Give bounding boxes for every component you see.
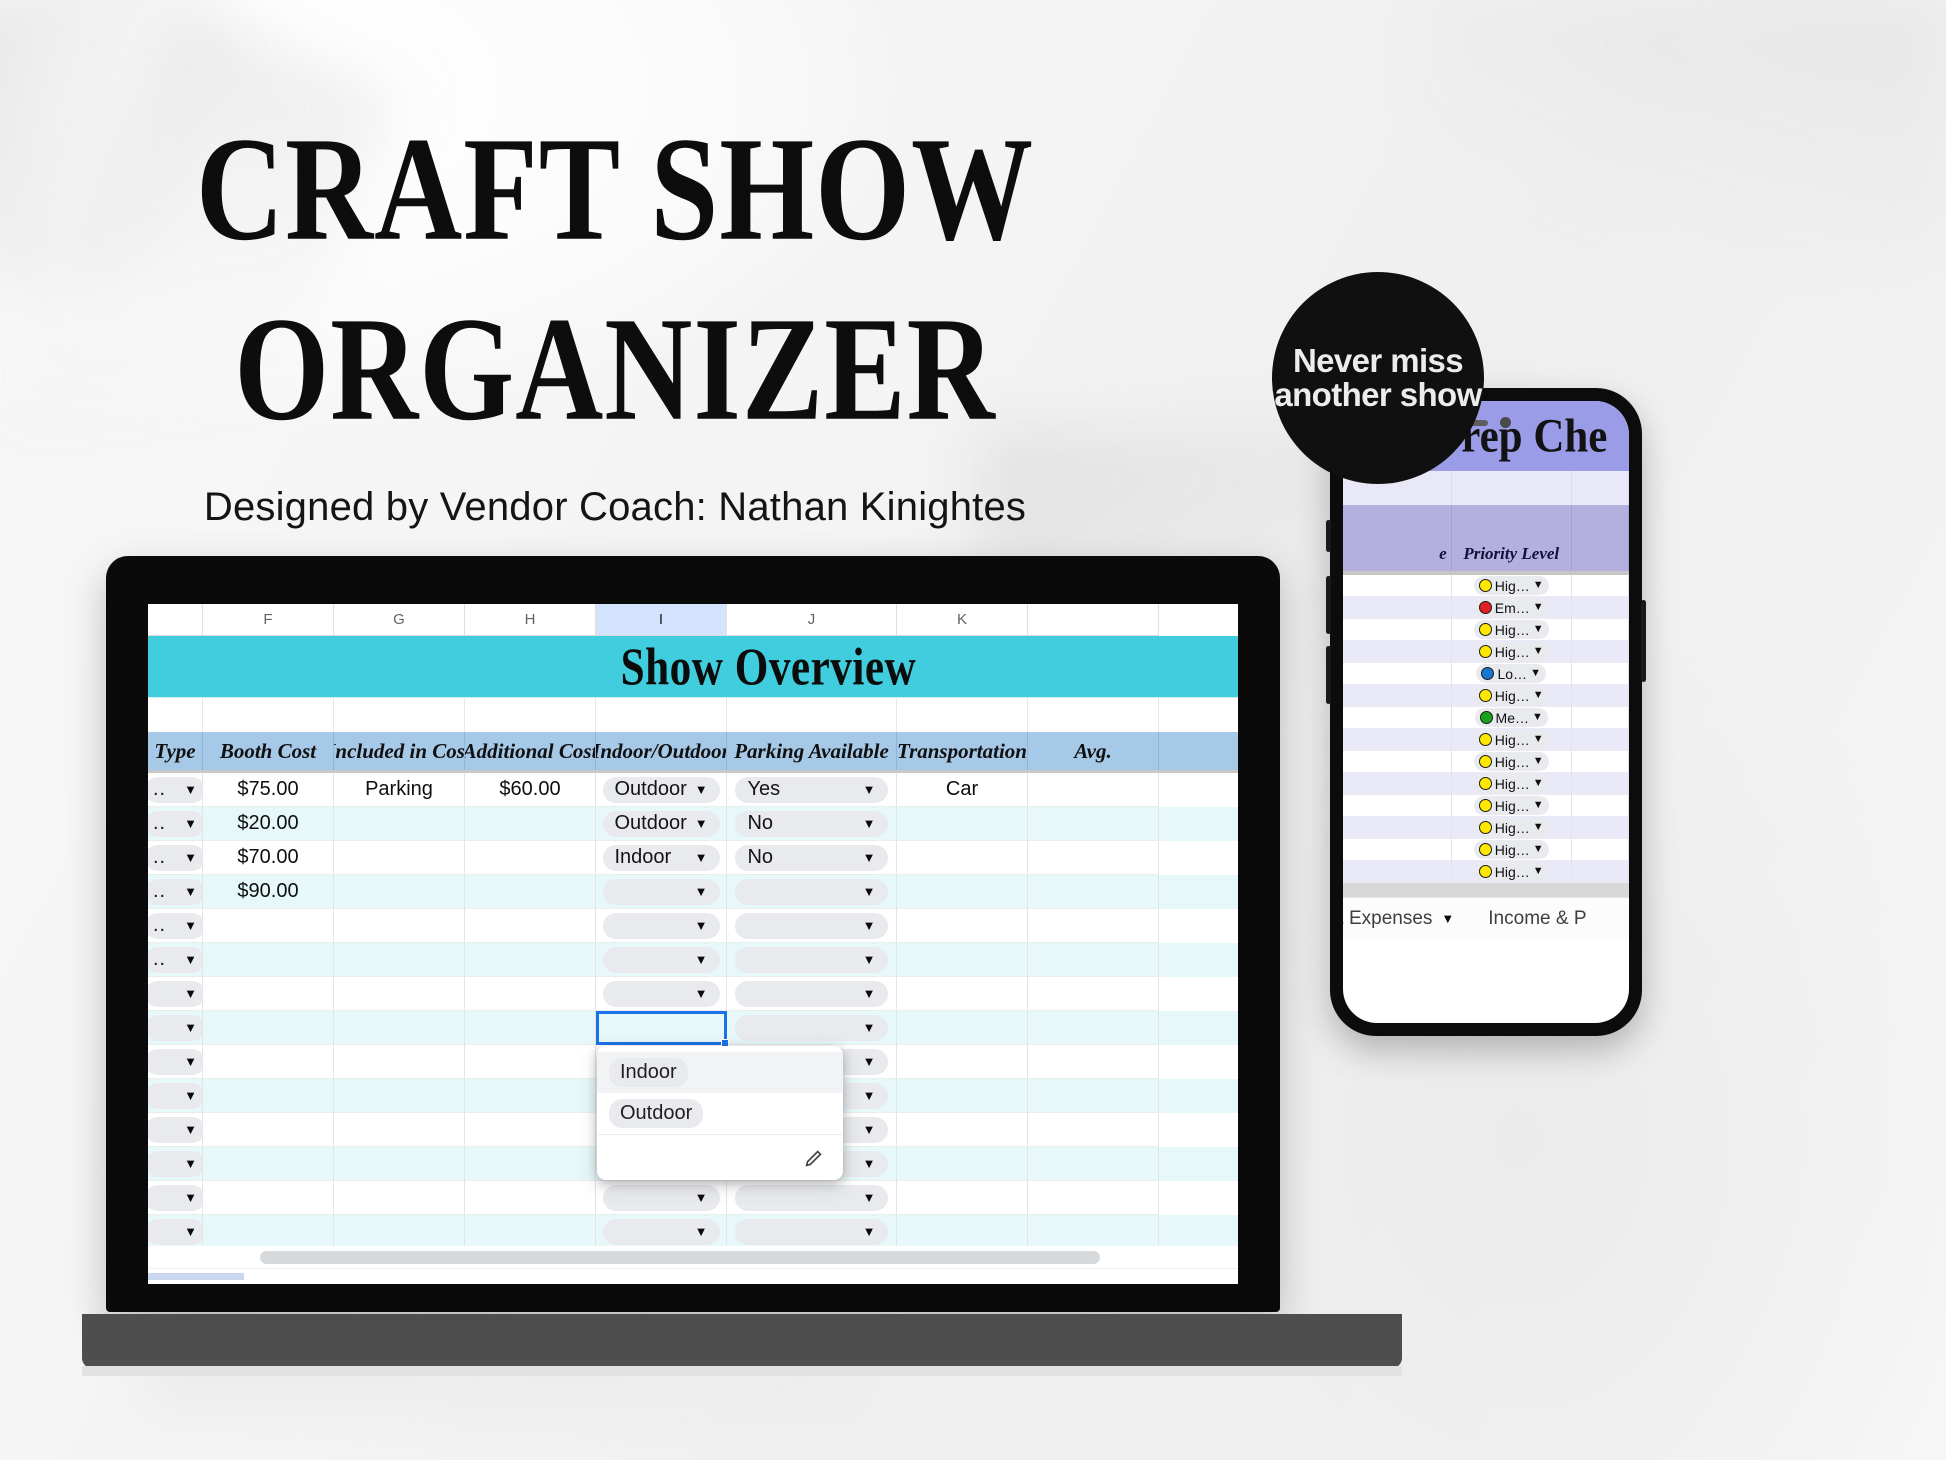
blank-cell[interactable] [334,698,465,732]
table-header-cell[interactable]: Transportation [897,732,1028,770]
phone-table-cell[interactable] [1343,795,1452,817]
chevron-down-icon[interactable]: ▼ [184,1225,197,1238]
chevron-down-icon[interactable]: ▼ [863,919,876,932]
phone-table-cell[interactable] [1572,773,1629,795]
table-cell[interactable] [897,977,1028,1011]
dropdown-chip[interactable]: ..▼ [148,913,203,939]
chevron-down-icon[interactable]: ▼ [863,1089,876,1102]
column-header-f[interactable]: F [203,604,334,636]
chevron-down-icon[interactable]: ▼ [863,1225,876,1238]
chevron-down-icon[interactable]: ▼ [1533,756,1544,767]
table-cell[interactable]: Yes▼ [727,773,897,807]
table-cell[interactable] [897,1147,1028,1181]
table-cell[interactable]: Outdoor▼ [596,773,727,807]
blank-cell[interactable] [148,698,203,732]
phone-priority-cell[interactable]: Hig…▼ [1452,729,1572,751]
chevron-down-icon[interactable]: ▼ [1533,624,1544,635]
chevron-down-icon[interactable]: ▼ [184,817,197,830]
table-cell[interactable]: ▼ [596,943,727,977]
chevron-down-icon[interactable]: ▼ [695,1225,708,1238]
table-cell[interactable] [334,807,465,841]
chevron-down-icon[interactable]: ▼ [1533,866,1544,877]
chevron-down-icon[interactable]: ▼ [863,817,876,830]
table-cell[interactable]: ▼ [148,1045,203,1079]
table-cell[interactable]: ..▼ [148,773,203,807]
phone-table-row[interactable]: Hig…▼ [1343,839,1629,861]
phone-table-row[interactable]: Hig…▼ [1343,795,1629,817]
table-cell[interactable]: $70.00 [203,841,334,875]
table-cell[interactable]: No▼ [727,807,897,841]
table-cell[interactable] [1028,1215,1159,1249]
dropdown-chip[interactable]: ▼ [148,1185,203,1211]
chevron-down-icon[interactable]: ▼ [863,1123,876,1136]
phone-table-cell[interactable] [1572,597,1629,619]
dropdown-chip[interactable]: ..▼ [148,845,203,871]
dropdown-chip[interactable]: ..▼ [148,947,203,973]
pencil-icon[interactable] [803,1147,825,1169]
table-cell[interactable] [465,875,596,909]
dropdown-menu[interactable]: Indoor Outdoor [597,1046,843,1180]
table-cell[interactable]: ▼ [727,1011,897,1045]
table-row[interactable]: ▼▼▼ [148,1215,1238,1249]
chevron-down-icon[interactable]: ▼ [184,1089,197,1102]
table-cell[interactable] [465,1113,596,1147]
table-cell[interactable]: ▼ [148,1147,203,1181]
phone-table-cell[interactable] [1572,663,1629,685]
blank-cell[interactable] [727,698,897,732]
dropdown-chip[interactable]: ▼ [735,1219,887,1245]
table-header-cell[interactable]: Parking Available [727,732,897,770]
table-cell[interactable] [897,1215,1028,1249]
phone-table-row[interactable]: Hig…▼ [1343,773,1629,795]
dropdown-chip[interactable]: ▼ [603,981,720,1007]
table-cell[interactable] [203,943,334,977]
table-cell[interactable] [334,1011,465,1045]
table-cell[interactable]: ▼ [727,875,897,909]
table-cell[interactable]: ..▼ [148,807,203,841]
chevron-down-icon[interactable]: ▼ [863,851,876,864]
phone-table-cell[interactable] [1343,861,1452,883]
table-cell[interactable] [897,807,1028,841]
chevron-down-icon[interactable]: ▼ [695,783,708,796]
table-cell[interactable]: ▼ [727,1215,897,1249]
chevron-down-icon[interactable]: ▼ [695,1191,708,1204]
table-cell[interactable] [203,1011,334,1045]
priority-chip[interactable]: Hig…▼ [1474,576,1549,595]
phone-table-row[interactable]: Hig…▼ [1343,817,1629,839]
table-cell[interactable]: ..▼ [148,909,203,943]
table-cell[interactable] [465,1181,596,1215]
priority-chip[interactable]: Hig…▼ [1474,642,1549,661]
phone-priority-cell[interactable]: Hig…▼ [1452,619,1572,641]
phone-table-row[interactable]: Lo…▼ [1343,663,1629,685]
table-cell[interactable] [897,1113,1028,1147]
dropdown-chip[interactable]: ..▼ [148,777,203,803]
chevron-down-icon[interactable]: ▼ [863,1157,876,1170]
phone-table-cell[interactable] [1343,685,1452,707]
chevron-down-icon[interactable]: ▼ [1533,690,1544,701]
phone-power-button[interactable] [1641,600,1646,682]
blank-cell[interactable] [1028,698,1159,732]
column-header-i[interactable]: I [596,604,727,636]
table-cell[interactable]: ..▼ [148,841,203,875]
phone-priority-cell[interactable]: Hig…▼ [1452,773,1572,795]
phone-table-cell[interactable] [1343,729,1452,751]
table-row[interactable]: ..▼$90.00▼▼ [148,875,1238,909]
table-cell[interactable] [465,1215,596,1249]
table-cell[interactable] [203,1181,334,1215]
phone-table-row[interactable]: Em…▼ [1343,597,1629,619]
phone-mute-button[interactable] [1326,520,1331,552]
table-cell[interactable] [465,909,596,943]
table-cell[interactable]: ▼ [148,977,203,1011]
chevron-down-icon[interactable]: ▼ [1533,580,1544,591]
phone-priority-cell[interactable]: Hig…▼ [1452,817,1572,839]
chevron-down-icon[interactable]: ▼ [184,1123,197,1136]
table-cell[interactable] [334,1215,465,1249]
phone-tab-bar[interactable]: & Expenses ▼ Income & P [1343,897,1629,939]
table-cell[interactable] [897,943,1028,977]
phone-volume-up-button[interactable] [1326,576,1331,634]
table-row[interactable]: ▼▼▼ [148,977,1238,1011]
table-cell[interactable]: ▼ [148,1181,203,1215]
phone-table-row[interactable]: Hig…▼ [1343,641,1629,663]
chevron-down-icon[interactable]: ▼ [863,1191,876,1204]
chevron-down-icon[interactable]: ▼ [863,783,876,796]
table-cell[interactable]: ▼ [727,1181,897,1215]
phone-table-cell[interactable] [1343,619,1452,641]
chevron-down-icon[interactable]: ▼ [1533,602,1544,613]
table-cell[interactable] [203,1113,334,1147]
table-cell[interactable] [1028,1011,1159,1045]
phone-table-cell[interactable] [1343,663,1452,685]
dropdown-chip[interactable]: ▼ [603,1185,720,1211]
table-cell[interactable] [897,1045,1028,1079]
column-header-blank[interactable] [1028,604,1159,636]
priority-chip[interactable]: Lo…▼ [1476,664,1545,683]
chevron-down-icon[interactable]: ▼ [1530,668,1541,679]
table-cell[interactable] [334,1181,465,1215]
priority-chip[interactable]: Hig…▼ [1474,840,1549,859]
table-cell[interactable] [203,1079,334,1113]
phone-table-cell[interactable] [1343,773,1452,795]
phone-volume-down-button[interactable] [1326,646,1331,704]
chevron-down-icon[interactable]: ▼ [695,851,708,864]
table-cell[interactable] [334,1079,465,1113]
chevron-down-icon[interactable]: ▼ [1533,734,1544,745]
table-cell[interactable]: ▼ [148,1215,203,1249]
table-header-cell[interactable]: Indoor/Outdoor [596,732,727,770]
dropdown-chip[interactable]: ▼ [735,947,887,973]
priority-chip[interactable]: Me…▼ [1475,708,1548,727]
table-cell[interactable]: Outdoor▼ [596,807,727,841]
table-cell[interactable] [203,1147,334,1181]
dropdown-option-outdoor[interactable]: Outdoor [597,1093,843,1134]
chevron-down-icon[interactable]: ▼ [1533,844,1544,855]
table-cell[interactable] [1028,1113,1159,1147]
dropdown-chip[interactable]: ▼ [148,1049,203,1075]
table-cell[interactable] [203,1045,334,1079]
dropdown-chip[interactable]: ▼ [735,1185,887,1211]
table-cell[interactable]: ▼ [148,1113,203,1147]
chevron-down-icon[interactable]: ▼ [184,919,197,932]
table-cell[interactable] [897,1181,1028,1215]
table-cell[interactable]: Indoor▼ [596,841,727,875]
table-cell[interactable] [1028,943,1159,977]
dropdown-chip[interactable]: ▼ [603,913,720,939]
priority-chip[interactable]: Hig…▼ [1474,818,1549,837]
phone-table-cell[interactable] [1572,685,1629,707]
dropdown-chip[interactable]: No▼ [735,845,887,871]
table-cell[interactable] [1028,1079,1159,1113]
table-cell[interactable]: ..▼ [148,943,203,977]
phone-table-cell[interactable] [1343,707,1452,729]
table-cell[interactable]: ▼ [727,977,897,1011]
dropdown-chip[interactable]: ▼ [148,1151,203,1177]
table-cell[interactable] [334,1113,465,1147]
table-cell[interactable]: Parking [334,773,465,807]
chevron-down-icon[interactable]: ▼ [1533,822,1544,833]
phone-table-cell[interactable] [1572,795,1629,817]
chevron-down-icon[interactable]: ▼ [1533,646,1544,657]
sheet-tab-strip[interactable] [148,1268,1238,1284]
table-cell[interactable]: No▼ [727,841,897,875]
table-cell[interactable]: ▼ [727,943,897,977]
column-header-k[interactable]: K [897,604,1028,636]
chevron-down-icon[interactable]: ▼ [695,987,708,1000]
phone-table-cell[interactable] [1343,751,1452,773]
table-cell[interactable] [897,1079,1028,1113]
dropdown-chip[interactable]: ▼ [735,879,887,905]
phone-table-cell[interactable] [1572,817,1629,839]
table-cell[interactable] [897,1011,1028,1045]
dropdown-chip[interactable]: ..▼ [148,811,203,837]
table-row[interactable]: ▼▼▼ [148,1181,1238,1215]
dropdown-chip[interactable]: Outdoor▼ [603,777,720,803]
table-cell[interactable] [897,875,1028,909]
phone-priority-cell[interactable]: Hig…▼ [1452,685,1572,707]
chevron-down-icon[interactable]: ▼ [863,1021,876,1034]
table-cell[interactable] [1028,977,1159,1011]
table-cell[interactable] [1028,1181,1159,1215]
phone-priority-cell[interactable]: Hig…▼ [1452,861,1572,883]
dropdown-chip[interactable]: Outdoor▼ [603,811,720,837]
dropdown-chip[interactable]: ▼ [603,947,720,973]
priority-chip[interactable]: Hig…▼ [1474,730,1549,749]
phone-table-cell[interactable] [1343,817,1452,839]
phone-table-row[interactable]: Me…▼ [1343,707,1629,729]
phone-table-row[interactable]: Hig…▼ [1343,751,1629,773]
dropdown-chip[interactable]: ▼ [148,1117,203,1143]
chevron-down-icon[interactable]: ▼ [1532,712,1543,723]
phone-priority-cell[interactable]: Lo…▼ [1452,663,1572,685]
blank-cell[interactable] [596,698,727,732]
phone-tab-expenses[interactable]: & Expenses ▼ [1343,908,1454,930]
dropdown-chip[interactable]: Indoor▼ [603,845,720,871]
table-cell[interactable]: ▼ [596,875,727,909]
phone-priority-cell[interactable]: Hig…▼ [1452,795,1572,817]
table-cell[interactable] [1028,875,1159,909]
dropdown-option-indoor[interactable]: Indoor [597,1052,843,1093]
table-cell[interactable]: $20.00 [203,807,334,841]
column-header-g[interactable]: G [334,604,465,636]
scrollbar-thumb[interactable] [260,1251,1100,1264]
chevron-down-icon[interactable]: ▼ [1533,800,1544,811]
blank-cell[interactable] [465,698,596,732]
dropdown-chip[interactable]: ▼ [735,981,887,1007]
phone-table-cell[interactable] [1343,839,1452,861]
chevron-down-icon[interactable]: ▼ [863,885,876,898]
selected-cell[interactable] [596,1011,727,1045]
table-header-cell[interactable]: Booth Cost [203,732,334,770]
table-cell[interactable] [465,1079,596,1113]
priority-chip[interactable]: Em…▼ [1474,598,1549,617]
table-cell[interactable] [334,875,465,909]
dropdown-chip[interactable]: ▼ [148,1015,203,1041]
column-header-h[interactable]: H [465,604,596,636]
phone-table-cell[interactable] [1572,861,1629,883]
chevron-down-icon[interactable]: ▼ [184,783,197,796]
table-cell[interactable]: ▼ [596,1215,727,1249]
column-header-blank[interactable] [148,604,203,636]
table-cell[interactable] [897,841,1028,875]
table-cell[interactable]: ▼ [596,977,727,1011]
table-cell[interactable] [1028,1147,1159,1181]
chevron-down-icon[interactable]: ▼ [184,1055,197,1068]
table-row[interactable]: ..▼$20.00Outdoor▼No▼ [148,807,1238,841]
dropdown-chip[interactable]: ▼ [603,1219,720,1245]
table-row[interactable]: ..▼$70.00Indoor▼No▼ [148,841,1238,875]
chevron-down-icon[interactable]: ▼ [1533,778,1544,789]
phone-table-row[interactable]: Hig…▼ [1343,685,1629,707]
table-row[interactable]: ..▼▼▼ [148,909,1238,943]
chevron-down-icon[interactable]: ▼ [184,851,197,864]
column-header-j[interactable]: J [727,604,897,636]
dropdown-chip[interactable]: ▼ [735,1015,887,1041]
table-cell[interactable] [465,1045,596,1079]
chevron-down-icon[interactable]: ▼ [184,1191,197,1204]
table-cell[interactable] [465,1147,596,1181]
dropdown-chip[interactable]: ▼ [148,1083,203,1109]
table-cell[interactable]: ▼ [596,1181,727,1215]
table-row[interactable]: ..▼▼▼ [148,943,1238,977]
horizontal-scrollbar[interactable] [148,1246,1238,1268]
table-cell[interactable]: ▼ [148,1079,203,1113]
chevron-down-icon[interactable]: ▼ [184,953,197,966]
phone-table-cell[interactable] [1343,641,1452,663]
priority-chip[interactable]: Hig…▼ [1474,752,1549,771]
table-cell[interactable]: ▼ [596,909,727,943]
blank-cell[interactable] [897,698,1028,732]
chevron-down-icon[interactable]: ▼ [184,1157,197,1170]
sheet-tab[interactable] [148,1273,244,1280]
table-cell[interactable] [203,977,334,1011]
table-cell[interactable] [465,807,596,841]
chevron-down-icon[interactable]: ▼ [695,953,708,966]
table-cell[interactable]: $90.00 [203,875,334,909]
priority-chip[interactable]: Hig…▼ [1474,774,1549,793]
table-cell[interactable] [1028,807,1159,841]
phone-table-cell[interactable] [1572,751,1629,773]
table-cell[interactable]: ..▼ [148,875,203,909]
dropdown-chip[interactable]: ▼ [735,913,887,939]
phone-priority-cell[interactable]: Hig…▼ [1452,751,1572,773]
table-cell[interactable] [465,841,596,875]
dropdown-chip[interactable]: ▼ [148,981,203,1007]
phone-table-cell[interactable] [1572,729,1629,751]
table-cell[interactable] [203,909,334,943]
table-cell[interactable] [465,977,596,1011]
table-cell[interactable] [334,977,465,1011]
table-header-cell[interactable]: Included in Cost [334,732,465,770]
chevron-down-icon[interactable]: ▼ [695,885,708,898]
priority-chip[interactable]: Hig…▼ [1474,686,1549,705]
phone-table-cell[interactable] [1343,597,1452,619]
phone-table-cell[interactable] [1572,619,1629,641]
table-cell[interactable] [897,909,1028,943]
phone-table-row[interactable]: Hig…▼ [1343,729,1629,751]
chevron-down-icon[interactable]: ▼ [863,953,876,966]
table-cell[interactable] [1028,841,1159,875]
table-cell[interactable] [1028,773,1159,807]
phone-table-row[interactable]: Hig…▼ [1343,575,1629,597]
dropdown-chip[interactable]: ..▼ [148,879,203,905]
phone-priority-cell[interactable]: Hig…▼ [1452,641,1572,663]
table-cell[interactable] [334,909,465,943]
dropdown-chip[interactable]: Yes▼ [735,777,887,803]
dropdown-chip[interactable]: No▼ [735,811,887,837]
table-cell[interactable] [203,1215,334,1249]
chevron-down-icon[interactable]: ▼ [184,885,197,898]
chevron-down-icon[interactable]: ▼ [184,1021,197,1034]
table-cell[interactable]: ▼ [148,1011,203,1045]
table-cell[interactable] [1028,909,1159,943]
chevron-down-icon[interactable]: ▼ [1441,912,1454,925]
table-cell[interactable]: $75.00 [203,773,334,807]
table-header-cell[interactable]: Additional Cost [465,732,596,770]
phone-priority-cell[interactable]: Hig…▼ [1452,575,1572,597]
table-cell[interactable] [334,1045,465,1079]
phone-priority-cell[interactable]: Hig…▼ [1452,839,1572,861]
table-cell[interactable]: ▼ [727,909,897,943]
phone-priority-cell[interactable]: Me…▼ [1452,707,1572,729]
phone-table-cell[interactable] [1572,575,1629,597]
phone-priority-cell[interactable]: Em…▼ [1452,597,1572,619]
table-header-cell[interactable]: Type [148,732,203,770]
phone-table-cell[interactable] [1343,575,1452,597]
table-row[interactable]: ..▼$75.00Parking$60.00Outdoor▼Yes▼Car [148,773,1238,807]
chevron-down-icon[interactable]: ▼ [863,1055,876,1068]
phone-table-row[interactable]: Hig…▼ [1343,619,1629,641]
dropdown-chip[interactable]: ▼ [603,879,720,905]
table-cell[interactable] [465,1011,596,1045]
chevron-down-icon[interactable]: ▼ [184,987,197,1000]
table-cell[interactable] [465,943,596,977]
chevron-down-icon[interactable]: ▼ [863,987,876,1000]
table-cell[interactable] [334,1147,465,1181]
phone-table-cell[interactable] [1572,641,1629,663]
phone-table-cell[interactable] [1572,707,1629,729]
priority-chip[interactable]: Hig…▼ [1474,620,1549,639]
table-cell[interactable]: $60.00 [465,773,596,807]
phone-tab-income[interactable]: Income & P [1488,908,1586,930]
priority-chip[interactable]: Hig…▼ [1474,796,1549,815]
phone-table-row[interactable]: Hig…▼ [1343,861,1629,883]
blank-cell[interactable] [203,698,334,732]
table-cell[interactable] [1028,1045,1159,1079]
dropdown-edit-row[interactable] [597,1134,843,1180]
dropdown-chip[interactable]: ▼ [148,1219,203,1245]
